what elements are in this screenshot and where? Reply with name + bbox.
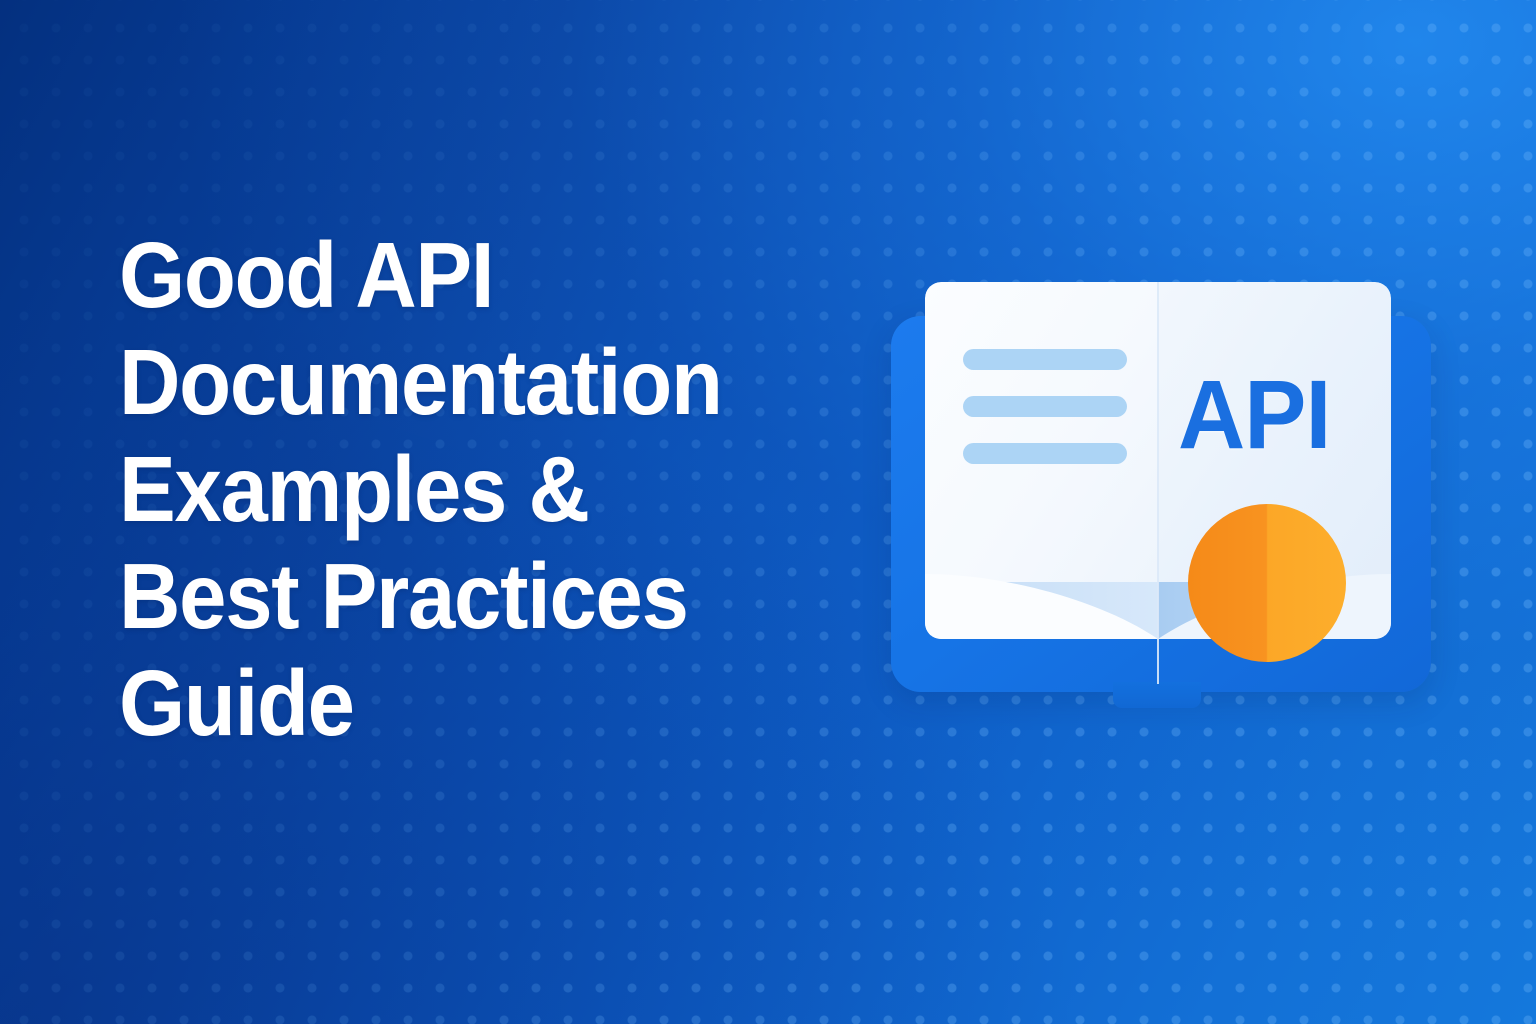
book-card-tab — [1113, 682, 1201, 708]
title-line-4: Best Practices — [119, 543, 842, 650]
page-text-line — [963, 443, 1127, 464]
page-title: Good API Documentation Examples & Best P… — [119, 222, 909, 757]
title-line-1: Good API — [119, 222, 842, 329]
open-book-api-icon: API — [886, 282, 1431, 732]
page-text-lines — [963, 349, 1127, 464]
title-line-2: Documentation — [119, 329, 842, 436]
accent-circle — [1188, 504, 1346, 662]
hero-banner: Good API Documentation Examples & Best P… — [0, 0, 1536, 1024]
api-wordmark: API — [1178, 366, 1330, 463]
page-text-line — [963, 349, 1127, 370]
book-top-arch — [925, 282, 1391, 342]
title-line-5: Guide — [119, 650, 842, 757]
title-line-3: Examples & — [119, 436, 842, 543]
page-text-line — [963, 396, 1127, 417]
